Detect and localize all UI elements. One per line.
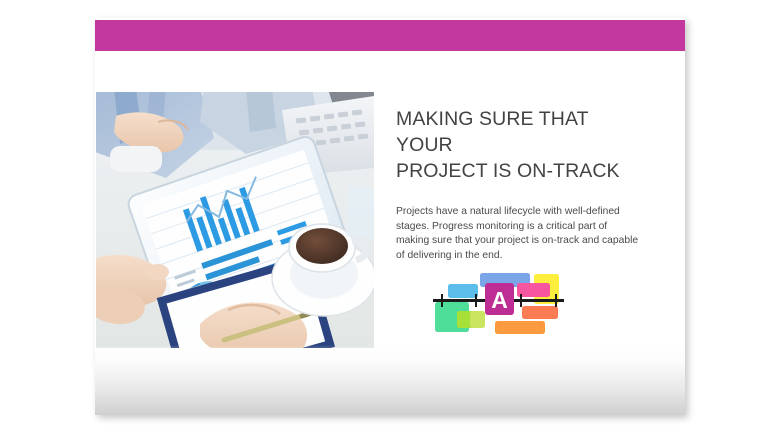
- bar-teal-thin: [441, 306, 461, 311]
- timeline-tick-1: [441, 294, 443, 307]
- logo-letter-text: A: [491, 287, 508, 313]
- hero-photo: [96, 92, 374, 348]
- bar-blue-small: [448, 284, 478, 298]
- title-line-1: MAKING SURE THAT YOUR: [396, 108, 588, 156]
- letter-a-glyph: A: [485, 283, 514, 315]
- timeline-tick-4: [555, 294, 557, 307]
- page-title: MAKING SURE THAT YOUR PROJECT IS ON-TRAC…: [396, 106, 646, 184]
- timeline-tick-3: [520, 294, 522, 307]
- bar-orange-bottom: [495, 321, 545, 334]
- presentation-slide: MAKING SURE THAT YOUR PROJECT IS ON-TRAC…: [95, 18, 685, 415]
- bar-lime: [470, 311, 485, 328]
- timeline-logo-badge: A: [485, 283, 514, 315]
- slide-bottom-fade: [95, 345, 685, 415]
- photo-illustration: [96, 92, 374, 348]
- title-line-2: PROJECT IS ON-TRACK: [396, 160, 620, 182]
- body-paragraph: Projects have a natural lifecycle with w…: [396, 184, 639, 263]
- timeline-tick-2: [475, 294, 477, 307]
- project-timeline-graphic: A: [433, 266, 573, 338]
- bar-orange-right: [522, 306, 558, 319]
- text-column: MAKING SURE THAT YOUR PROJECT IS ON-TRAC…: [396, 106, 646, 263]
- header-accent-band: [95, 20, 685, 51]
